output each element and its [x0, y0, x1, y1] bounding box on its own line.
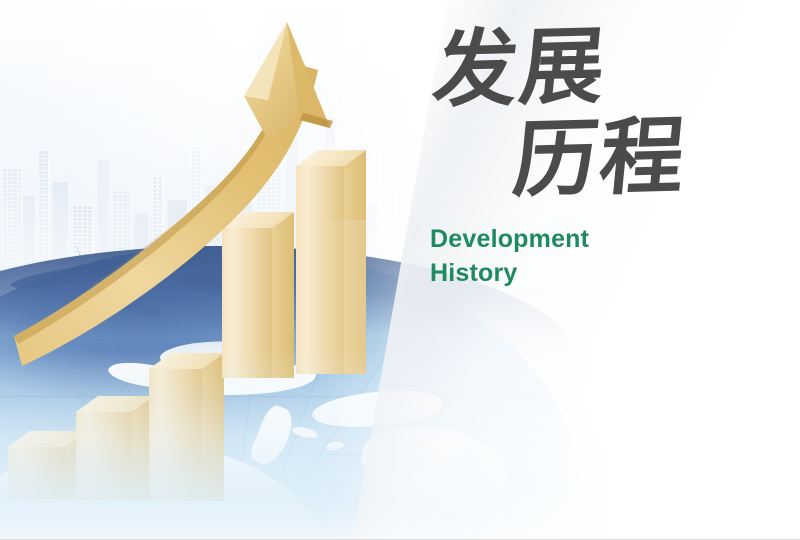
english-title: Development History — [430, 222, 760, 290]
calligraphy-line-1: 发展 — [430, 24, 611, 112]
english-title-line-1: Development — [430, 222, 760, 256]
heading-block: 发展 历程 Development History — [430, 26, 760, 290]
calligraphy-line-2: 历程 — [510, 114, 691, 202]
development-history-banner: 发展 历程 Development History — [0, 0, 800, 540]
english-title-line-2: History — [430, 256, 760, 290]
